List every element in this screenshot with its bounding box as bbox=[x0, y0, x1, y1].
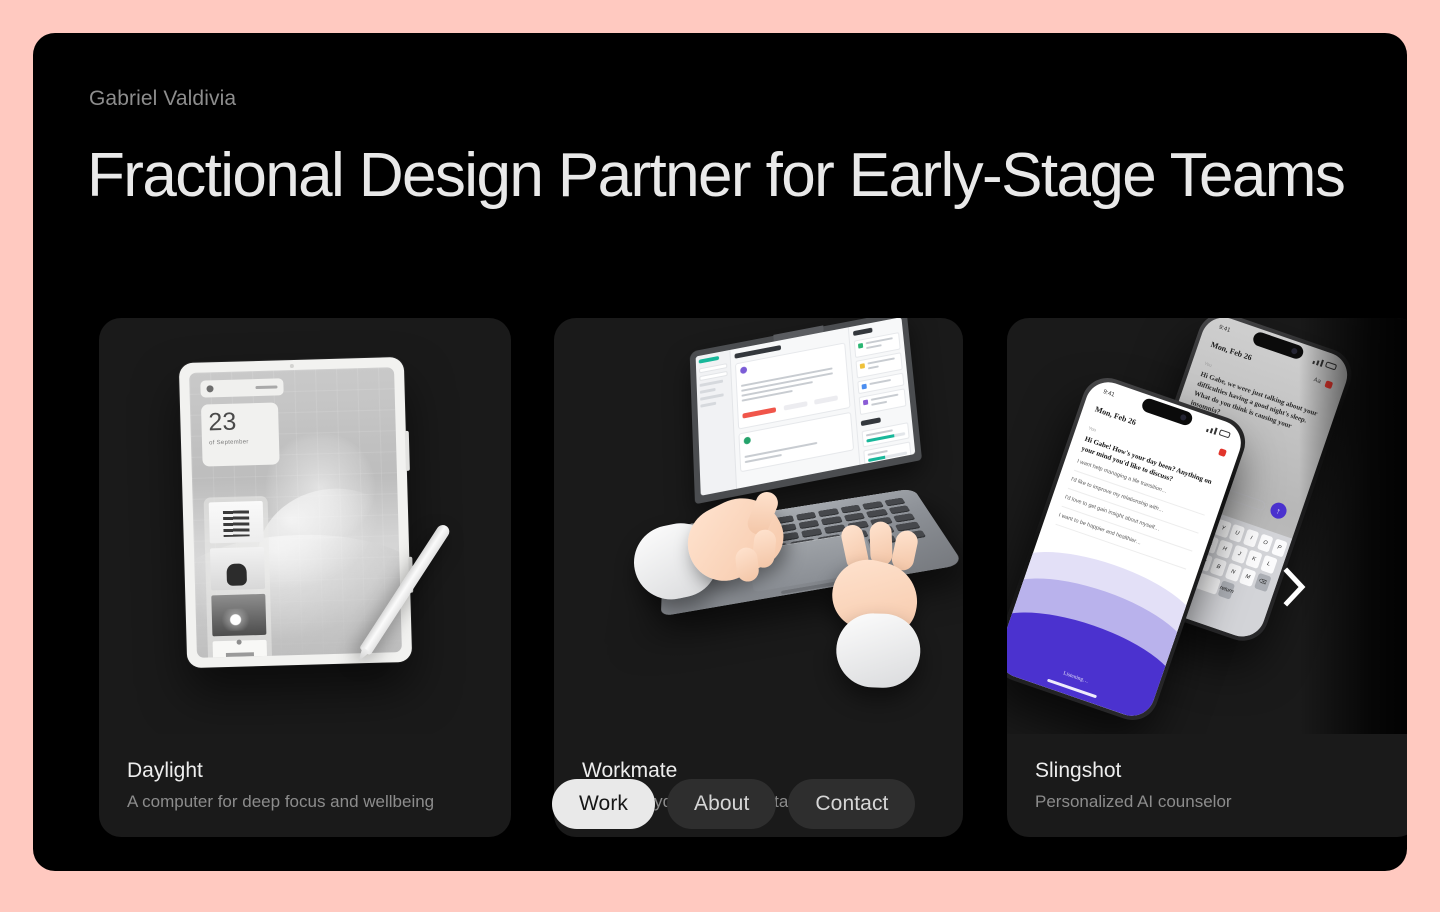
laptop-lid bbox=[690, 318, 922, 504]
listening-waves bbox=[1007, 548, 1188, 722]
secondary-action-button bbox=[814, 395, 838, 404]
text-line bbox=[870, 379, 891, 385]
app-main-pane bbox=[731, 327, 860, 488]
project-title: Daylight bbox=[127, 757, 493, 785]
main-nav: Work About Contact bbox=[552, 779, 915, 829]
workmate-artwork bbox=[554, 318, 963, 734]
laptop-scene bbox=[554, 318, 963, 734]
status-dot-icon bbox=[206, 385, 213, 392]
project-carousel: 23 of September bbox=[33, 318, 1407, 838]
project-card-workmate[interactable]: Workmate Your everyday work assistant bbox=[554, 318, 963, 837]
date-number: 23 bbox=[208, 408, 279, 435]
text-line bbox=[868, 357, 895, 364]
page-title: Fractional Design Partner for Early-Stag… bbox=[87, 143, 1344, 208]
sidebar-item bbox=[700, 380, 723, 387]
text-line bbox=[866, 344, 881, 349]
text-line bbox=[871, 394, 898, 401]
book-cover bbox=[209, 501, 264, 544]
daylight-meta: Daylight A computer for deep focus and w… bbox=[127, 757, 493, 815]
status-bar-glyph bbox=[255, 385, 277, 389]
book-cover bbox=[211, 593, 266, 636]
text-line bbox=[868, 365, 879, 369]
sleeve-cuff bbox=[835, 612, 922, 689]
primary-action-button bbox=[743, 407, 777, 418]
portfolio-stage: Gabriel Valdivia Fractional Design Partn… bbox=[33, 33, 1407, 871]
date-widget: 23 of September bbox=[201, 402, 280, 466]
status-time: 9:41 bbox=[1102, 389, 1115, 398]
app-logo-icon bbox=[699, 356, 719, 364]
battery-icon bbox=[1219, 429, 1231, 438]
volume-button bbox=[405, 431, 410, 471]
task-check-icon bbox=[858, 343, 863, 349]
avatar bbox=[740, 366, 747, 374]
project-card-slingshot[interactable]: 9:41 Mon, Feb 26 Aa bbox=[1007, 318, 1407, 837]
task-check-icon bbox=[863, 399, 868, 405]
slingshot-artwork: 9:41 Mon, Feb 26 Aa bbox=[1007, 318, 1407, 734]
task-check-icon bbox=[862, 384, 867, 390]
phones-scene: 9:41 Mon, Feb 26 Aa bbox=[1007, 318, 1407, 734]
text-line bbox=[872, 401, 887, 406]
laptop-screen bbox=[696, 318, 916, 496]
book-cover bbox=[210, 547, 265, 590]
slingshot-meta: Slingshot Personalized AI counselor bbox=[1035, 757, 1401, 815]
secondary-action-button bbox=[784, 401, 808, 411]
nav-item-contact[interactable]: Contact bbox=[788, 779, 915, 829]
carousel-next-button[interactable] bbox=[1273, 561, 1317, 613]
daylight-artwork: 23 of September bbox=[99, 318, 511, 734]
project-subtitle: Personalized AI counselor bbox=[1035, 790, 1401, 815]
tablet-screen: 23 of September bbox=[189, 367, 402, 658]
nav-item-about[interactable]: About bbox=[667, 779, 776, 829]
task-check-icon bbox=[860, 363, 865, 369]
book-shelf bbox=[204, 496, 273, 658]
sidebar-item bbox=[700, 393, 723, 400]
signal-icon bbox=[1206, 424, 1218, 434]
record-icon bbox=[1324, 380, 1333, 389]
camera-icon bbox=[289, 364, 293, 368]
projects-heading bbox=[861, 417, 881, 426]
sidebar-item bbox=[700, 388, 716, 394]
nav-item-work[interactable]: Work bbox=[552, 779, 655, 829]
tablet-status-bar bbox=[200, 378, 283, 397]
battery-icon bbox=[1325, 361, 1337, 370]
status-time: 9:41 bbox=[1218, 324, 1231, 333]
chevron-right-icon bbox=[1282, 567, 1308, 607]
sidebar-item bbox=[700, 402, 716, 408]
signal-icon bbox=[1312, 357, 1324, 367]
tablet-scene: 23 of September bbox=[99, 318, 511, 734]
avatar bbox=[744, 436, 751, 444]
page-root: Gabriel Valdivia Fractional Design Partn… bbox=[0, 0, 1440, 912]
record-icon bbox=[1218, 448, 1227, 457]
project-title: Slingshot bbox=[1035, 757, 1401, 785]
text-size-control: Aa bbox=[1313, 377, 1322, 385]
send-button: ↑ bbox=[1268, 500, 1288, 520]
tasks-heading bbox=[853, 328, 872, 336]
laptop-icon bbox=[612, 318, 945, 677]
text-line bbox=[866, 337, 893, 344]
date-month: of September bbox=[209, 438, 279, 446]
project-subtitle: A computer for deep focus and wellbeing bbox=[127, 790, 493, 815]
app-tasks-pane bbox=[848, 318, 915, 465]
author-name: Gabriel Valdivia bbox=[89, 87, 236, 111]
project-card-daylight[interactable]: 23 of September bbox=[99, 318, 511, 837]
